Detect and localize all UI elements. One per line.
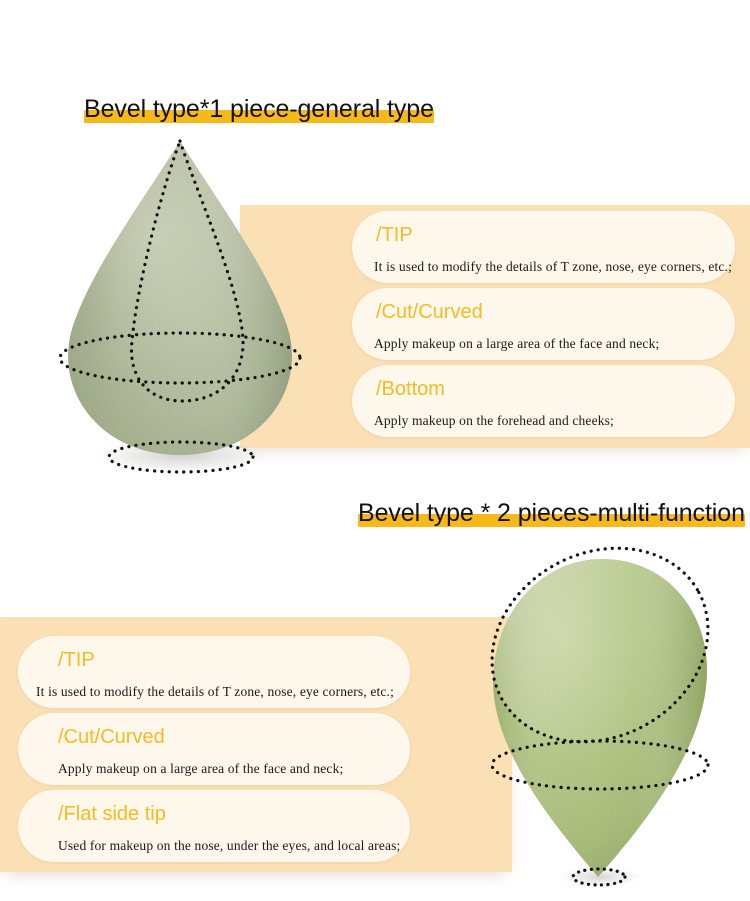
bevel-body — [450, 525, 750, 901]
feature-card-title: /Bottom — [376, 378, 445, 401]
feature-card-description: Apply makeup on the forehead and cheeks; — [374, 413, 614, 429]
heading-text: Bevel type*1 piece-general type — [84, 95, 434, 123]
feature-card-flat-side-tip: /Flat side tip Used for makeup on the no… — [18, 790, 410, 862]
heading-text: Bevel type * 2 pieces-multi-function — [358, 499, 745, 527]
feature-card-description: Apply makeup on a large area of the face… — [374, 336, 659, 352]
feature-card-description: Used for makeup on the nose, under the e… — [58, 838, 400, 854]
feature-card-tip: /TIP It is used to modify the details of… — [18, 636, 410, 708]
teardrop-sponge — [20, 125, 340, 485]
feature-card-description: It is used to modify the details of T zo… — [374, 259, 732, 275]
feature-card-tip: /TIP It is used to modify the details of… — [352, 211, 735, 283]
feature-card-cut-curved: /Cut/Curved Apply makeup on a large area… — [352, 288, 735, 360]
feature-card-title: /TIP — [58, 649, 95, 672]
infographic-canvas: Bevel type*1 piece-general type — [0, 0, 750, 901]
feature-card-title: /Flat side tip — [58, 803, 166, 826]
feature-card-cut-curved: /Cut/Curved Apply makeup on a large area… — [18, 713, 410, 785]
feature-card-title: /Cut/Curved — [58, 726, 165, 749]
section-heading-multi-function: Bevel type * 2 pieces-multi-function — [358, 498, 745, 528]
feature-card-bottom: /Bottom Apply makeup on the forehead and… — [352, 365, 735, 437]
section-heading-general-type: Bevel type*1 piece-general type — [84, 94, 434, 124]
feature-card-title: /TIP — [376, 224, 413, 247]
feature-card-title: /Cut/Curved — [376, 301, 483, 324]
bevel-sponge — [450, 525, 750, 901]
feature-card-description: Apply makeup on a large area of the face… — [58, 761, 343, 777]
teardrop-body — [20, 125, 340, 485]
feature-card-description: It is used to modify the details of T zo… — [36, 684, 394, 700]
